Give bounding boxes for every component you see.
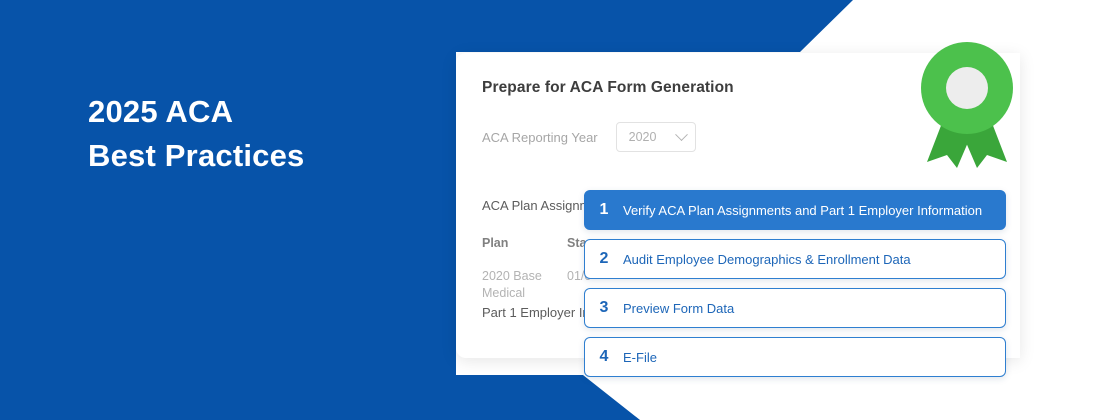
- cell-plan: 2020 Base Medical: [482, 268, 567, 302]
- step-label: E-File: [623, 350, 657, 365]
- step-item-4[interactable]: 4 E-File: [584, 337, 1006, 377]
- step-number: 1: [585, 201, 623, 219]
- step-number: 3: [585, 299, 623, 317]
- page-title: 2025 ACA Best Practices: [88, 90, 305, 178]
- reporting-year-label: ACA Reporting Year: [482, 130, 598, 145]
- step-item-2[interactable]: 2 Audit Employee Demographics & Enrollme…: [584, 239, 1006, 279]
- award-ribbon-icon: [917, 40, 1017, 170]
- step-label: Preview Form Data: [623, 301, 734, 316]
- banner-stage: 2025 ACA Best Practices Prepare for ACA …: [0, 0, 1100, 420]
- headline-line-1: 2025 ACA: [88, 90, 305, 134]
- step-item-1[interactable]: 1 Verify ACA Plan Assignments and Part 1…: [584, 190, 1006, 230]
- part1-employer-label: Part 1 Employer Inf: [482, 305, 593, 320]
- step-number: 4: [585, 348, 623, 366]
- step-label: Verify ACA Plan Assignments and Part 1 E…: [623, 203, 982, 218]
- column-header-plan: Plan: [482, 236, 567, 250]
- headline-line-2: Best Practices: [88, 134, 305, 178]
- reporting-year-value: 2020: [629, 130, 657, 144]
- reporting-year-select[interactable]: 2020: [616, 122, 696, 152]
- step-label: Audit Employee Demographics & Enrollment…: [623, 252, 911, 267]
- step-number: 2: [585, 250, 623, 268]
- chevron-down-icon: [675, 128, 688, 141]
- step-item-3[interactable]: 3 Preview Form Data: [584, 288, 1006, 328]
- steps-list: 1 Verify ACA Plan Assignments and Part 1…: [584, 190, 1006, 386]
